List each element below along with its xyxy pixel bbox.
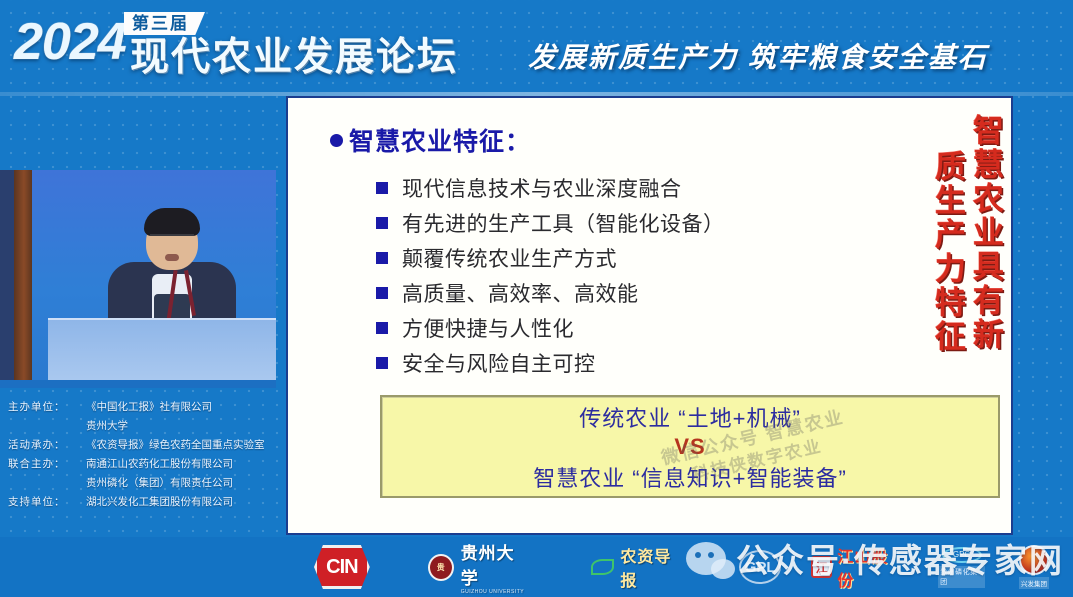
list-item-label: 方便快捷与人性化 bbox=[402, 313, 574, 343]
square-bullet-icon bbox=[376, 322, 388, 334]
sponsor-label: 联合主办： bbox=[8, 455, 86, 474]
guizhou-university-logo[interactable]: 贵 贵州大学 GUIZHOU UNIVERSITY bbox=[428, 545, 529, 589]
footer-bar: CIN 贵 贵州大学 GUIZHOU UNIVERSITY 农资导报 GPL 江… bbox=[0, 537, 1073, 597]
slide-bullet-list: 现代信息技术与农业深度融合 有先进的生产工具（智能化设备） 颠覆传统农业生产方式… bbox=[376, 170, 856, 380]
university-seal-icon: 贵 bbox=[428, 554, 454, 581]
vertical-red-heading: 智慧农业具有新 质生产力特征 bbox=[929, 114, 1003, 354]
comparison-callout-box: 传统农业 “土地+机械” VS 智慧农业 “信息知识+智能装备” bbox=[380, 395, 1000, 498]
slide-heading: 智慧农业特征： bbox=[330, 122, 531, 158]
vertical-heading-column-left: 质生产力特征 bbox=[929, 150, 965, 354]
sponsor-value: 《农资导报》绿色农药全国重点实验室 bbox=[86, 436, 290, 455]
presentation-screenshot: 2024 第三届 现代农业发展论坛 发展新质生产力 筑牢粮食安全基石 主办单位：… bbox=[0, 0, 1073, 597]
comparison-line-traditional: 传统农业 “土地+机械” bbox=[579, 401, 801, 433]
guizhou-phosphate-logo[interactable]: GPC 贵州磷化集团 bbox=[938, 545, 985, 589]
jiangshan-mark-icon: 江 bbox=[811, 556, 832, 578]
nongzidaobao-name: 农资导报 bbox=[620, 543, 685, 591]
speaker-hair bbox=[144, 208, 200, 236]
sponsor-value: 贵州磷化（集团）有限责任公司 bbox=[8, 474, 290, 493]
list-item: 高质量、高效率、高效能 bbox=[376, 275, 856, 310]
xingfa-group-logo[interactable]: 兴发集团 bbox=[1019, 545, 1049, 589]
list-item-label: 高质量、高效率、高效能 bbox=[402, 278, 639, 308]
sponsor-label: 主办单位： bbox=[8, 398, 86, 417]
partner-logo-strip: CIN 贵 贵州大学 GUIZHOU UNIVERSITY 农资导报 GPL 江… bbox=[0, 537, 1073, 597]
list-item-label: 现代信息技术与农业深度融合 bbox=[402, 173, 682, 203]
xingfa-name: 兴发集团 bbox=[1019, 577, 1049, 589]
comparison-line-smart: 智慧农业 “信息知识+智能装备” bbox=[533, 461, 847, 493]
video-left-edge bbox=[0, 170, 14, 388]
slide-heading-text: 智慧农业特征： bbox=[349, 122, 531, 158]
event-header-banner: 2024 第三届 现代农业发展论坛 发展新质生产力 筑牢粮食安全基石 bbox=[0, 0, 1073, 96]
comparison-vs-label: VS bbox=[674, 434, 705, 460]
list-item: 方便快捷与人性化 bbox=[376, 310, 856, 345]
presentation-slide[interactable]: 智慧农业特征： 现代信息技术与农业深度融合 有先进的生产工具（智能化设备） 颠覆… bbox=[286, 96, 1013, 535]
square-bullet-icon bbox=[376, 217, 388, 229]
vertical-heading-column-right: 智慧农业具有新 bbox=[967, 114, 1003, 354]
stage-column-decor bbox=[14, 170, 32, 380]
list-item-label: 安全与风险自主可控 bbox=[402, 348, 596, 378]
jiangshan-logo[interactable]: 江 江山股份 bbox=[811, 545, 902, 589]
square-bullet-icon bbox=[376, 252, 388, 264]
bullet-dot-icon bbox=[330, 134, 343, 147]
sponsor-row: 联合主办： 南通江山农药化工股份有限公司 bbox=[8, 455, 290, 474]
sponsor-row: 活动承办： 《农资导报》绿色农药全国重点实验室 bbox=[8, 436, 290, 455]
xingfa-mark-icon bbox=[1019, 545, 1049, 575]
list-item: 安全与风险自主可控 bbox=[376, 345, 856, 380]
podium bbox=[48, 318, 276, 380]
list-item-label: 有先进的生产工具（智能化设备） bbox=[402, 208, 725, 238]
sponsor-label: 活动承办： bbox=[8, 436, 86, 455]
event-brand: 2024 bbox=[14, 16, 126, 68]
edition-badge: 第三届 bbox=[124, 12, 205, 35]
nongzidaobao-logo[interactable]: 农资导报 bbox=[591, 545, 685, 589]
event-year: 2024 bbox=[14, 16, 126, 68]
sponsor-value: 贵州大学 bbox=[8, 417, 290, 436]
sponsor-row: 主办单位： 《中国化工报》社有限公司 bbox=[8, 398, 290, 417]
sponsor-credits: 主办单位： 《中国化工报》社有限公司 贵州大学 活动承办： 《农资导报》绿色农药… bbox=[8, 398, 290, 512]
list-item-label: 颠覆传统农业生产方式 bbox=[402, 243, 617, 273]
gpl-mark: GPL bbox=[739, 550, 781, 584]
sponsor-value: 《中国化工报》社有限公司 bbox=[86, 398, 290, 417]
sponsor-row: 支持单位： 湖北兴发化工集团股份有限公司 bbox=[8, 493, 290, 512]
speaker-glasses bbox=[150, 234, 194, 241]
sponsor-value: 湖北兴发化工集团股份有限公司 bbox=[86, 493, 290, 512]
video-bottom-edge bbox=[0, 380, 276, 388]
speaker-video-tile[interactable] bbox=[0, 170, 276, 388]
jiangshan-name: 江山股份 bbox=[837, 543, 902, 591]
sponsor-label: 支持单位： bbox=[8, 493, 86, 512]
university-name-en: GUIZHOU UNIVERSITY bbox=[461, 589, 530, 595]
list-item: 颠覆传统农业生产方式 bbox=[376, 240, 856, 275]
cin-logo[interactable]: CIN bbox=[314, 545, 370, 589]
edition-badge-wrap: 第三届 bbox=[124, 12, 205, 36]
list-item: 有先进的生产工具（智能化设备） bbox=[376, 205, 856, 240]
square-bullet-icon bbox=[376, 357, 388, 369]
forum-title: 现代农业发展论坛 bbox=[130, 36, 458, 80]
sponsor-value: 南通江山农药化工股份有限公司 bbox=[86, 455, 290, 474]
event-slogan: 发展新质生产力 筑牢粮食安全基石 bbox=[528, 40, 988, 76]
speaker-mouth bbox=[165, 254, 179, 261]
university-name-cn: 贵州大学 bbox=[461, 544, 515, 588]
list-item: 现代信息技术与农业深度融合 bbox=[376, 170, 856, 205]
phosphate-mark-icon: GPC bbox=[942, 547, 982, 563]
square-bullet-icon bbox=[376, 287, 388, 299]
gpl-logo[interactable]: GPL bbox=[739, 545, 781, 589]
university-name: 贵州大学 GUIZHOU UNIVERSITY bbox=[461, 539, 530, 595]
leaf-icon bbox=[591, 559, 614, 575]
phosphate-name: 贵州磷化集团 bbox=[938, 566, 985, 588]
square-bullet-icon bbox=[376, 182, 388, 194]
